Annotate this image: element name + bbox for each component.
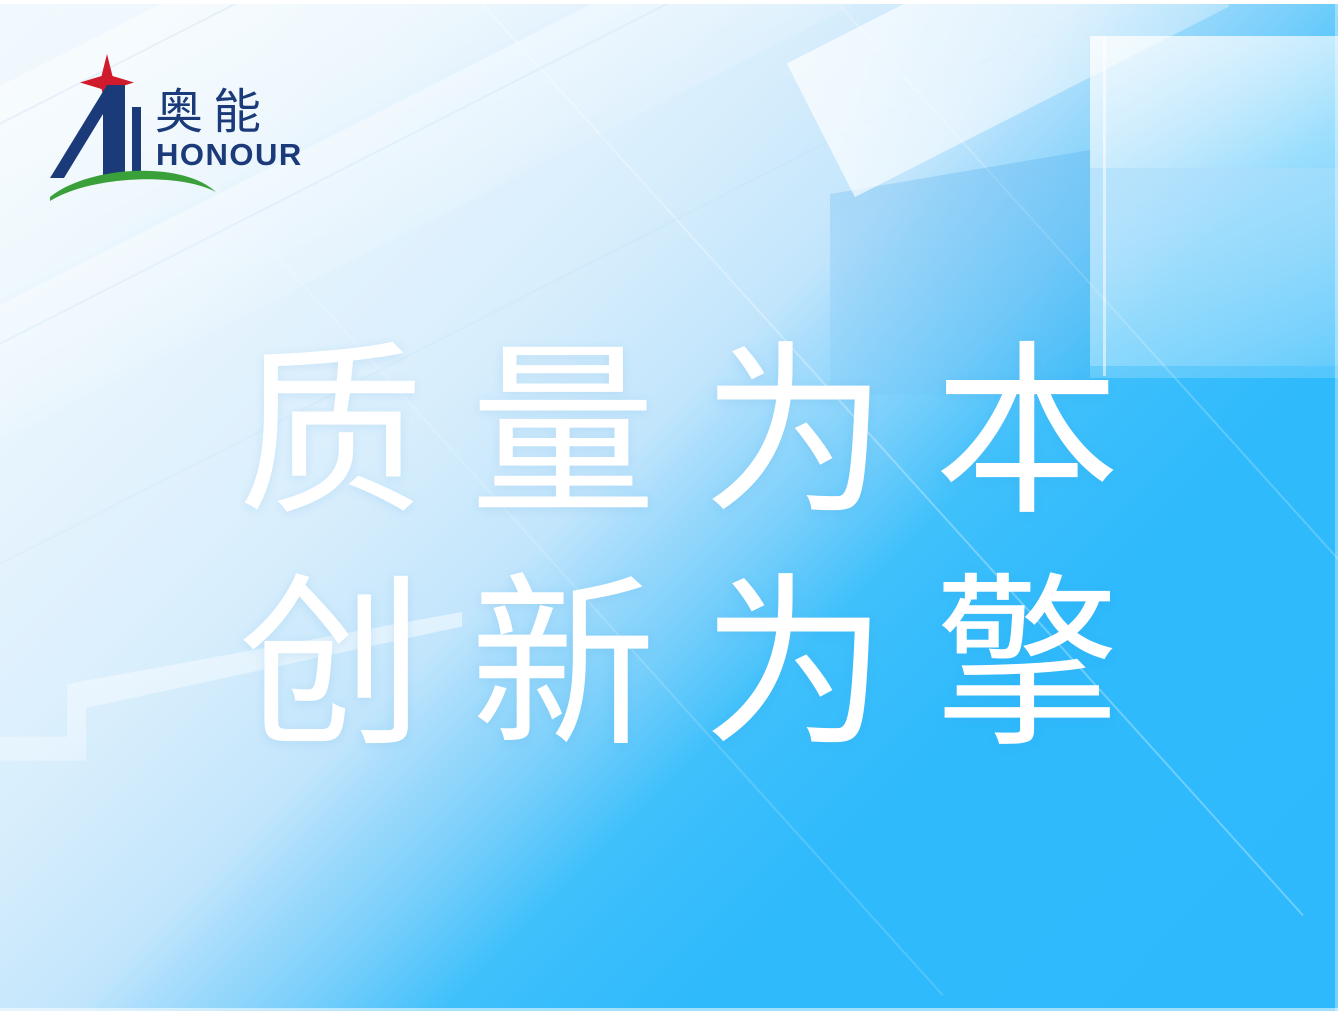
- headline-line-1: 质量为本: [238, 318, 1138, 550]
- logo-chinese-name: 奥能: [155, 84, 271, 140]
- background-prism-cap: [787, 0, 1229, 197]
- mountain-a-mark: [50, 85, 141, 178]
- headline-block: 质量为本 创新为擎: [238, 318, 1138, 782]
- green-arc: [50, 171, 216, 201]
- honour-logo[interactable]: 奥能 HONOUR: [50, 52, 350, 202]
- edge-strip-top: [0, 0, 1338, 4]
- headline-line-2: 创新为擎: [238, 550, 1138, 782]
- banner-slide: 奥能 HONOUR 质量为本 创新为擎: [0, 0, 1338, 1011]
- logo-english-name: HONOUR: [156, 137, 303, 172]
- background-prism-panel: [1090, 36, 1338, 366]
